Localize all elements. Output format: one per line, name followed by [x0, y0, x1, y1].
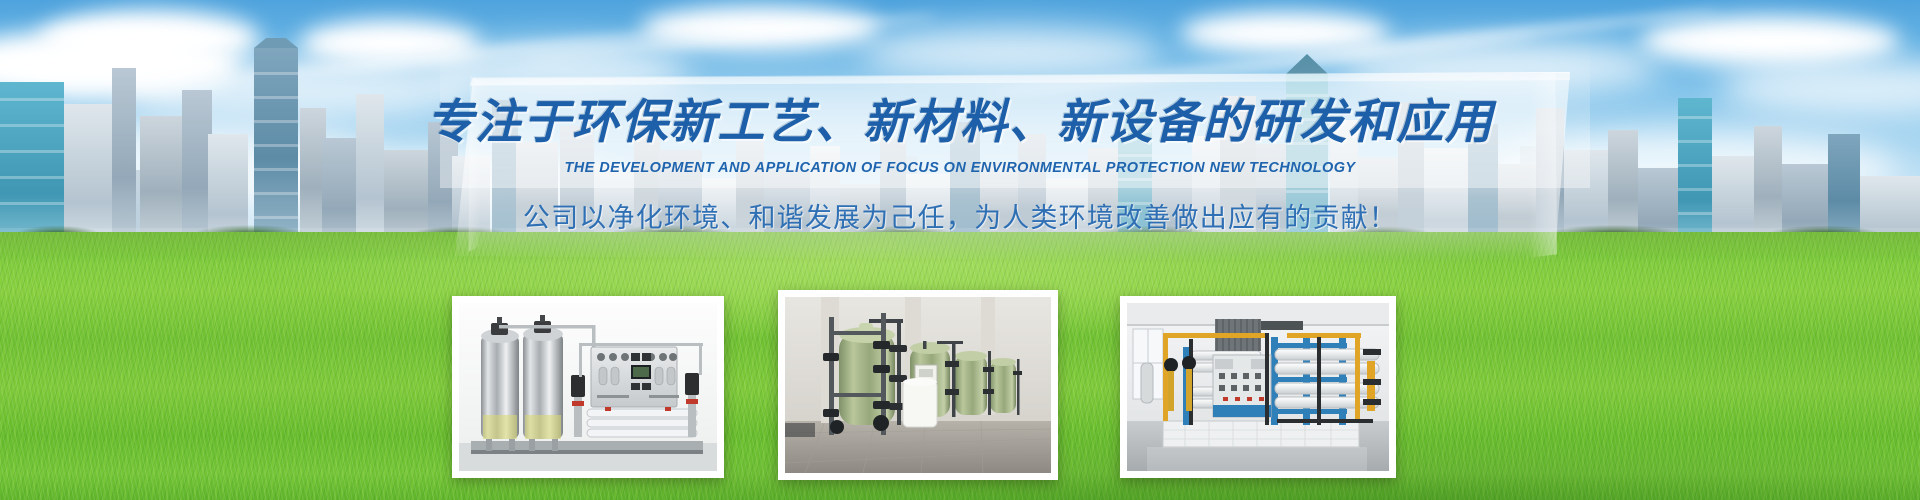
hero-banner: 专注于环保新工艺、新材料、新设备的研发和应用 THE DEVELOPMENT A… [0, 0, 1920, 500]
photo-image [1127, 303, 1389, 471]
subtitle-chinese: 公司以净化环境、和谐发展为己任，为人类环境改善做出应有的贡献！ [0, 196, 1920, 235]
banner-text-block: 专注于环保新工艺、新材料、新设备的研发和应用 THE DEVELOPMENT A… [0, 96, 1920, 235]
photo-industrial-ro-plant[interactable] [1120, 296, 1396, 478]
photo-frp-filter-tanks[interactable] [778, 290, 1058, 480]
page-title: 专注于环保新工艺、新材料、新设备的研发和应用 [0, 96, 1920, 149]
photo-image [459, 303, 717, 471]
subtitle-english: THE DEVELOPMENT AND APPLICATION OF FOCUS… [0, 160, 1920, 176]
photo-strip [0, 296, 1920, 486]
photo-image [785, 297, 1051, 473]
photo-stainless-ro-system[interactable] [452, 296, 724, 478]
